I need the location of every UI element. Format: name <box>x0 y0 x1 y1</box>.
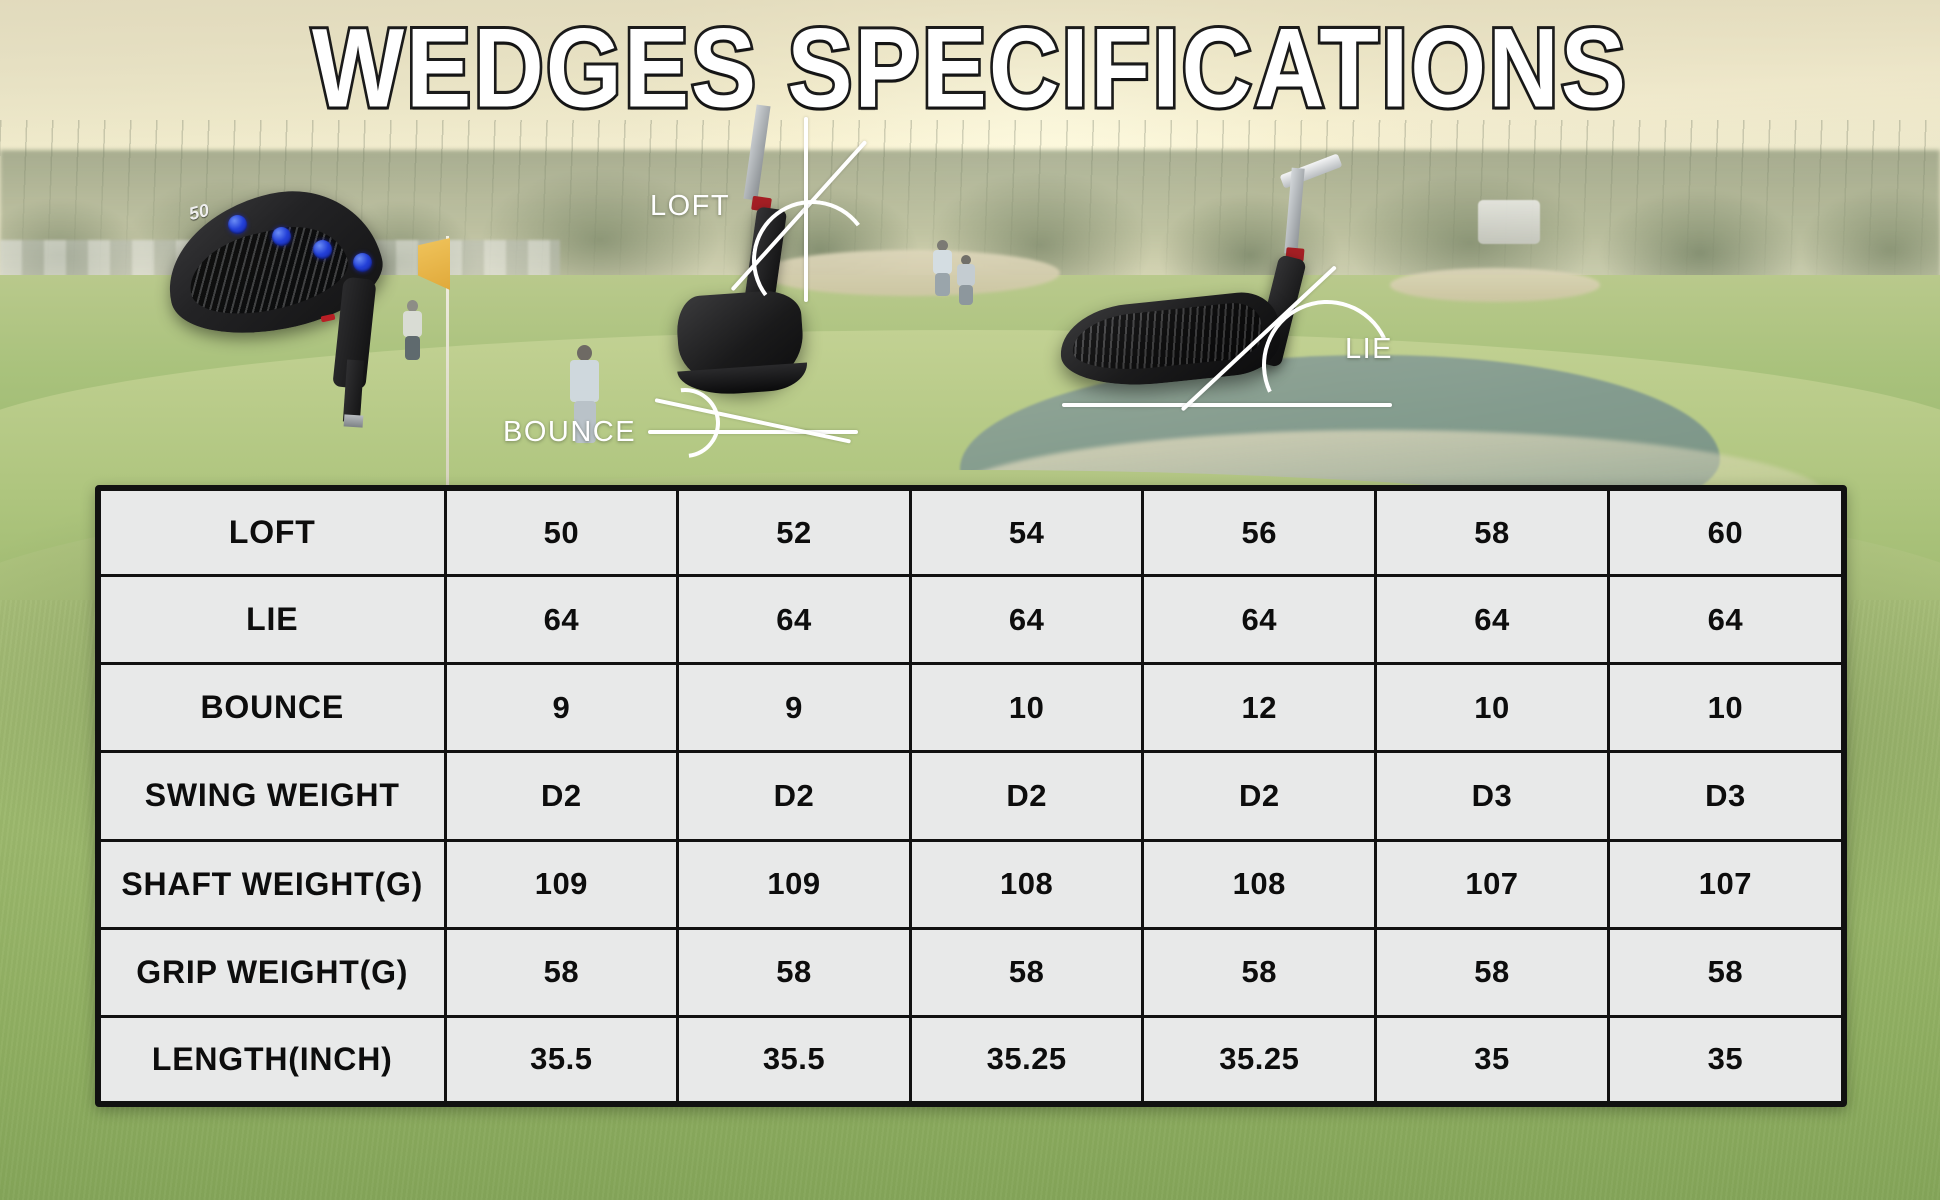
wedge-shaft <box>343 359 364 422</box>
table-row: LENGTH(INCH)35.535.535.2535.253535 <box>101 1016 1841 1101</box>
table-cell: 52 <box>678 491 911 576</box>
table-cell: 58 <box>1608 928 1841 1016</box>
table-cell: 9 <box>445 664 678 752</box>
table-cell: 56 <box>1143 491 1376 576</box>
table-cell: 58 <box>1376 928 1609 1016</box>
table-cell: 109 <box>445 840 678 928</box>
table-cell: D2 <box>678 752 911 840</box>
page-title: WEDGES SPECIFICATIONS <box>0 10 1940 128</box>
table-cell: 58 <box>1376 491 1609 576</box>
wedge-club-face-view: 50 <box>155 170 455 460</box>
sand-bunker-right <box>1390 268 1600 302</box>
table-cell: 35 <box>1608 1016 1841 1101</box>
table-cell: 109 <box>678 840 911 928</box>
label-lie: LIE <box>1345 333 1393 366</box>
row-label: LENGTH(INCH) <box>101 1016 445 1101</box>
table-cell: 64 <box>1376 576 1609 664</box>
row-label: LOFT <box>101 491 445 576</box>
table-cell: 35.25 <box>1143 1016 1376 1101</box>
table-cell: 35 <box>1376 1016 1609 1101</box>
table-cell: 54 <box>910 491 1143 576</box>
golf-cart-icon <box>1478 200 1540 244</box>
table-cell: 50 <box>445 491 678 576</box>
table-cell: 58 <box>445 928 678 1016</box>
wedge-shaft-tip <box>344 414 364 427</box>
table-cell: 35.25 <box>910 1016 1143 1101</box>
label-loft: LOFT <box>650 190 730 223</box>
table-row: LIE646464646464 <box>101 576 1841 664</box>
table-cell: 108 <box>1143 840 1376 928</box>
table-cell: D2 <box>910 752 1143 840</box>
table-cell: D2 <box>445 752 678 840</box>
row-label: BOUNCE <box>101 664 445 752</box>
golfer-figure <box>930 240 956 296</box>
table-cell: 64 <box>910 576 1143 664</box>
row-label: LIE <box>101 576 445 664</box>
weight-screw-icon <box>272 227 291 246</box>
specifications-table-container: LOFT505254565860LIE646464646464BOUNCE991… <box>95 485 1847 1107</box>
row-label: GRIP WEIGHT(G) <box>101 928 445 1016</box>
label-bounce: BOUNCE <box>503 416 636 449</box>
table-cell: 64 <box>1143 576 1376 664</box>
table-cell: 58 <box>678 928 911 1016</box>
table-cell: 64 <box>445 576 678 664</box>
table-row: GRIP WEIGHT(G)585858585858 <box>101 928 1841 1016</box>
table-cell: 58 <box>1143 928 1376 1016</box>
weight-screw-icon <box>228 215 247 234</box>
table-cell: 9 <box>678 664 911 752</box>
wedge-shaft <box>743 104 770 200</box>
specifications-table: LOFT505254565860LIE646464646464BOUNCE991… <box>101 491 1841 1101</box>
table-cell: 10 <box>1376 664 1609 752</box>
table-cell: 107 <box>1376 840 1609 928</box>
table-cell: D3 <box>1608 752 1841 840</box>
table-row: BOUNCE9910121010 <box>101 664 1841 752</box>
table-cell: 58 <box>910 928 1143 1016</box>
weight-screw-icon <box>353 253 372 272</box>
table-cell: 64 <box>1608 576 1841 664</box>
table-cell: 35.5 <box>445 1016 678 1101</box>
table-row: SWING WEIGHTD2D2D2D2D3D3 <box>101 752 1841 840</box>
golfer-figure <box>955 255 979 305</box>
wedge-accent-stripe <box>321 314 336 323</box>
table-cell: 64 <box>678 576 911 664</box>
table-cell: 108 <box>910 840 1143 928</box>
table-row: LOFT505254565860 <box>101 491 1841 576</box>
row-label: SWING WEIGHT <box>101 752 445 840</box>
table-cell: 12 <box>1143 664 1376 752</box>
row-label: SHAFT WEIGHT(G) <box>101 840 445 928</box>
table-cell: 107 <box>1608 840 1841 928</box>
weight-screw-icon <box>313 240 332 259</box>
table-cell: 60 <box>1608 491 1841 576</box>
table-cell: D2 <box>1143 752 1376 840</box>
table-cell: 10 <box>910 664 1143 752</box>
table-row: SHAFT WEIGHT(G)109109108108107107 <box>101 840 1841 928</box>
table-cell: 10 <box>1608 664 1841 752</box>
table-cell: 35.5 <box>678 1016 911 1101</box>
table-cell: D3 <box>1376 752 1609 840</box>
